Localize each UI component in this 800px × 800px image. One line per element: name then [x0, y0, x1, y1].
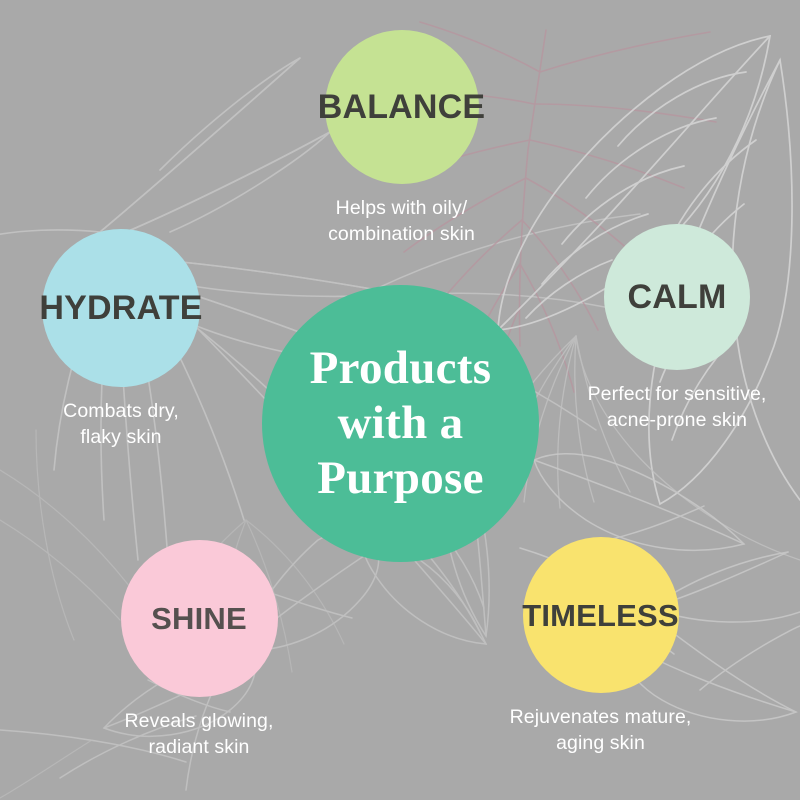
benefit-bubble-shine[interactable]: SHINE — [121, 540, 278, 697]
benefit-bubble-balance[interactable]: BALANCE — [325, 30, 479, 184]
benefit-label-calm: CALM — [628, 280, 727, 314]
skincare-benefits-infographic: Products with a Purpose BALANCE Helps wi… — [0, 0, 800, 800]
benefit-caption-shine: Reveals glowing, radiant skin — [124, 709, 273, 761]
benefit-caption-balance: Helps with oily/ combination skin — [328, 196, 475, 248]
benefit-bubble-timeless[interactable]: TIMELESS — [523, 537, 679, 693]
benefit-node-timeless[interactable]: TIMELESS Rejuvenates mature, aging skin — [462, 537, 739, 757]
benefit-caption-hydrate: Combats dry, flaky skin — [63, 399, 179, 451]
benefit-caption-timeless: Rejuvenates mature, aging skin — [510, 705, 692, 757]
center-hero-bubble[interactable]: Products with a Purpose — [262, 285, 539, 562]
benefit-bubble-calm[interactable]: CALM — [604, 224, 750, 370]
benefit-label-balance: BALANCE — [318, 90, 486, 124]
benefit-label-shine: SHINE — [151, 603, 247, 634]
benefit-node-calm[interactable]: CALM Perfect for sensitive, acne-prone s… — [546, 224, 800, 434]
benefit-bubble-hydrate[interactable]: HYDRATE — [42, 229, 200, 387]
benefit-caption-calm: Perfect for sensitive, acne-prone skin — [588, 382, 767, 434]
center-title: Products with a Purpose — [310, 341, 492, 506]
benefit-node-shine[interactable]: SHINE Reveals glowing, radiant skin — [64, 540, 334, 761]
benefit-node-balance[interactable]: BALANCE Helps with oily/ combination ski… — [249, 30, 554, 248]
benefit-label-hydrate: HYDRATE — [39, 291, 202, 325]
benefit-node-hydrate[interactable]: HYDRATE Combats dry, flaky skin — [0, 229, 256, 451]
benefit-label-timeless: TIMELESS — [522, 600, 679, 631]
